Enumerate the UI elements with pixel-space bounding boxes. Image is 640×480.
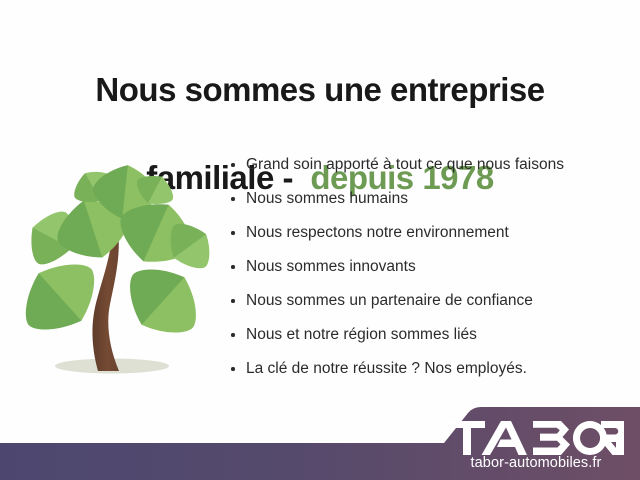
list-item-label: La clé de notre réussite ? Nos employés. [246, 361, 527, 377]
bullet-icon [231, 333, 235, 337]
list-item: Nous sommes innovants [228, 250, 628, 284]
list-item: La clé de notre réussite ? Nos employés. [228, 352, 628, 386]
list-item-label: Nous sommes un partenaire de confiance [246, 293, 533, 309]
list-item-label: Grand soin apporté à tout ce que nous fa… [246, 157, 564, 173]
list-item: Nous sommes humains [228, 182, 628, 216]
slide-canvas: Nous sommes une entreprise familiale - d… [0, 0, 640, 480]
bullet-icon [231, 299, 235, 303]
headline-line-1: Nous sommes une entreprise [0, 68, 640, 112]
list-item-label: Nous et notre région sommes liés [246, 327, 477, 343]
bullet-icon [231, 197, 235, 201]
brand-wordmark [446, 421, 626, 455]
list-item-label: Nous respectons notre environnement [246, 225, 509, 241]
brand-website: tabor-automobiles.fr [446, 456, 626, 472]
brand-logo: tabor-automobiles.fr [446, 421, 626, 472]
list-item-label: Nous sommes humains [246, 191, 408, 207]
bullet-icon [231, 265, 235, 269]
footer-brand-bar: tabor-automobiles.fr [0, 400, 640, 480]
bullet-icon [231, 367, 235, 371]
list-item-label: Nous sommes innovants [246, 259, 416, 275]
list-item: Grand soin apporté à tout ce que nous fa… [228, 148, 628, 182]
bullet-icon [231, 163, 235, 167]
list-item: Nous et notre région sommes liés [228, 318, 628, 352]
bullet-icon [231, 231, 235, 235]
tree-illustration [12, 152, 218, 384]
list-item: Nous respectons notre environnement [228, 216, 628, 250]
feature-list: Grand soin apporté à tout ce que nous fa… [228, 148, 628, 386]
list-item: Nous sommes un partenaire de confiance [228, 284, 628, 318]
